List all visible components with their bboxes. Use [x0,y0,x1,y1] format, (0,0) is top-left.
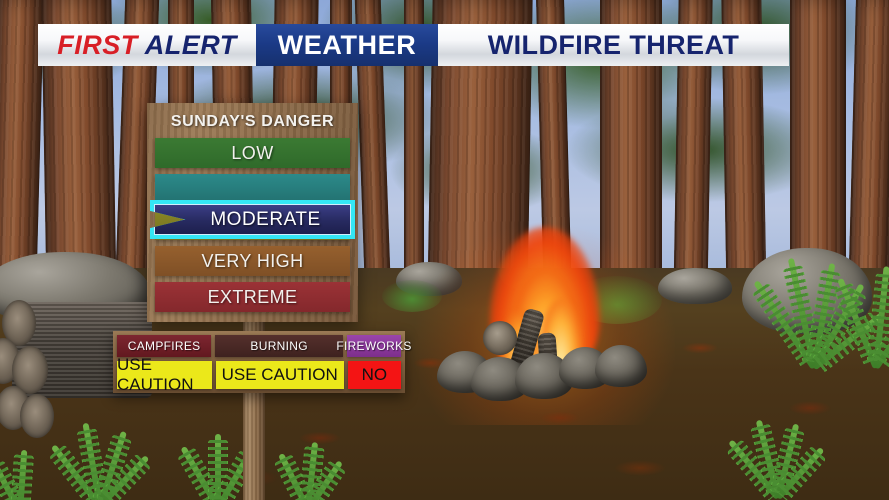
value-label: USE CAUTION [117,355,212,395]
fern [210,430,220,500]
first-text: FIRST [57,32,138,59]
danger-level-moderate[interactable]: MODERATE [155,174,350,204]
table-value-row: USE CAUTION USE CAUTION NO [117,361,401,389]
fire-log-end [483,321,517,355]
value-burning: USE CAUTION [216,361,344,389]
first-alert-logo: FIRST ALERT [38,24,256,66]
danger-sign-title: SUNDAY'S DANGER [155,113,350,131]
weather-text: WEATHER [278,30,417,61]
column-header-label: CAMPFIRES [128,339,201,353]
danger-level-very-high[interactable]: VERY HIGH [155,246,350,276]
value-campfires: USE CAUTION [117,361,212,389]
campfire [455,235,635,395]
value-label: NO [362,365,388,385]
value-label: USE CAUTION [222,365,338,385]
danger-level-list: LOW MODERATE HIGH VERY HIGH EXTREME MODE… [155,138,350,312]
danger-level-extreme[interactable]: EXTREME [155,282,350,312]
fern [868,258,878,368]
table-header-row: CAMPFIRES BURNING FIREWORKS [117,335,401,357]
fern [300,440,310,500]
column-header-burning: BURNING [215,335,343,357]
log-end [20,394,54,438]
danger-level-low[interactable]: LOW [155,138,350,168]
rock [658,268,732,304]
wildfire-threat-text: WILDFIRE THREAT [488,30,739,61]
wildfire-threat-label: WILDFIRE THREAT [438,24,789,66]
bush [382,280,442,312]
column-header-label: BURNING [250,339,307,353]
weather-label: WEATHER [256,24,438,66]
alert-text: ALERT [145,32,237,59]
fern [770,412,780,498]
danger-sign-board: SUNDAY'S DANGER LOW MODERATE HIGH VERY H… [147,103,358,322]
fern [12,446,22,500]
value-fireworks: NO [348,361,401,389]
sign-post [243,300,265,500]
column-header-fireworks: FIREWORKS [347,335,401,357]
column-header-label: FIREWORKS [336,339,411,353]
header-banner: FIRST ALERT WEATHER WILDFIRE THREAT [38,24,789,66]
column-header-campfires: CAMPFIRES [117,335,211,357]
danger-level-label: EXTREME [208,287,298,308]
danger-level-label: VERY HIGH [202,251,304,272]
forest-scene-background [0,0,889,500]
danger-level-label: LOW [231,143,273,164]
fire-restrictions-table: CAMPFIRES BURNING FIREWORKS USE CAUTION … [113,331,405,393]
weather-graphic-stage: FIRST ALERT WEATHER WILDFIRE THREAT SUND… [0,0,889,500]
tree-trunk [848,0,889,300]
fern [806,248,816,368]
fern [92,418,102,500]
